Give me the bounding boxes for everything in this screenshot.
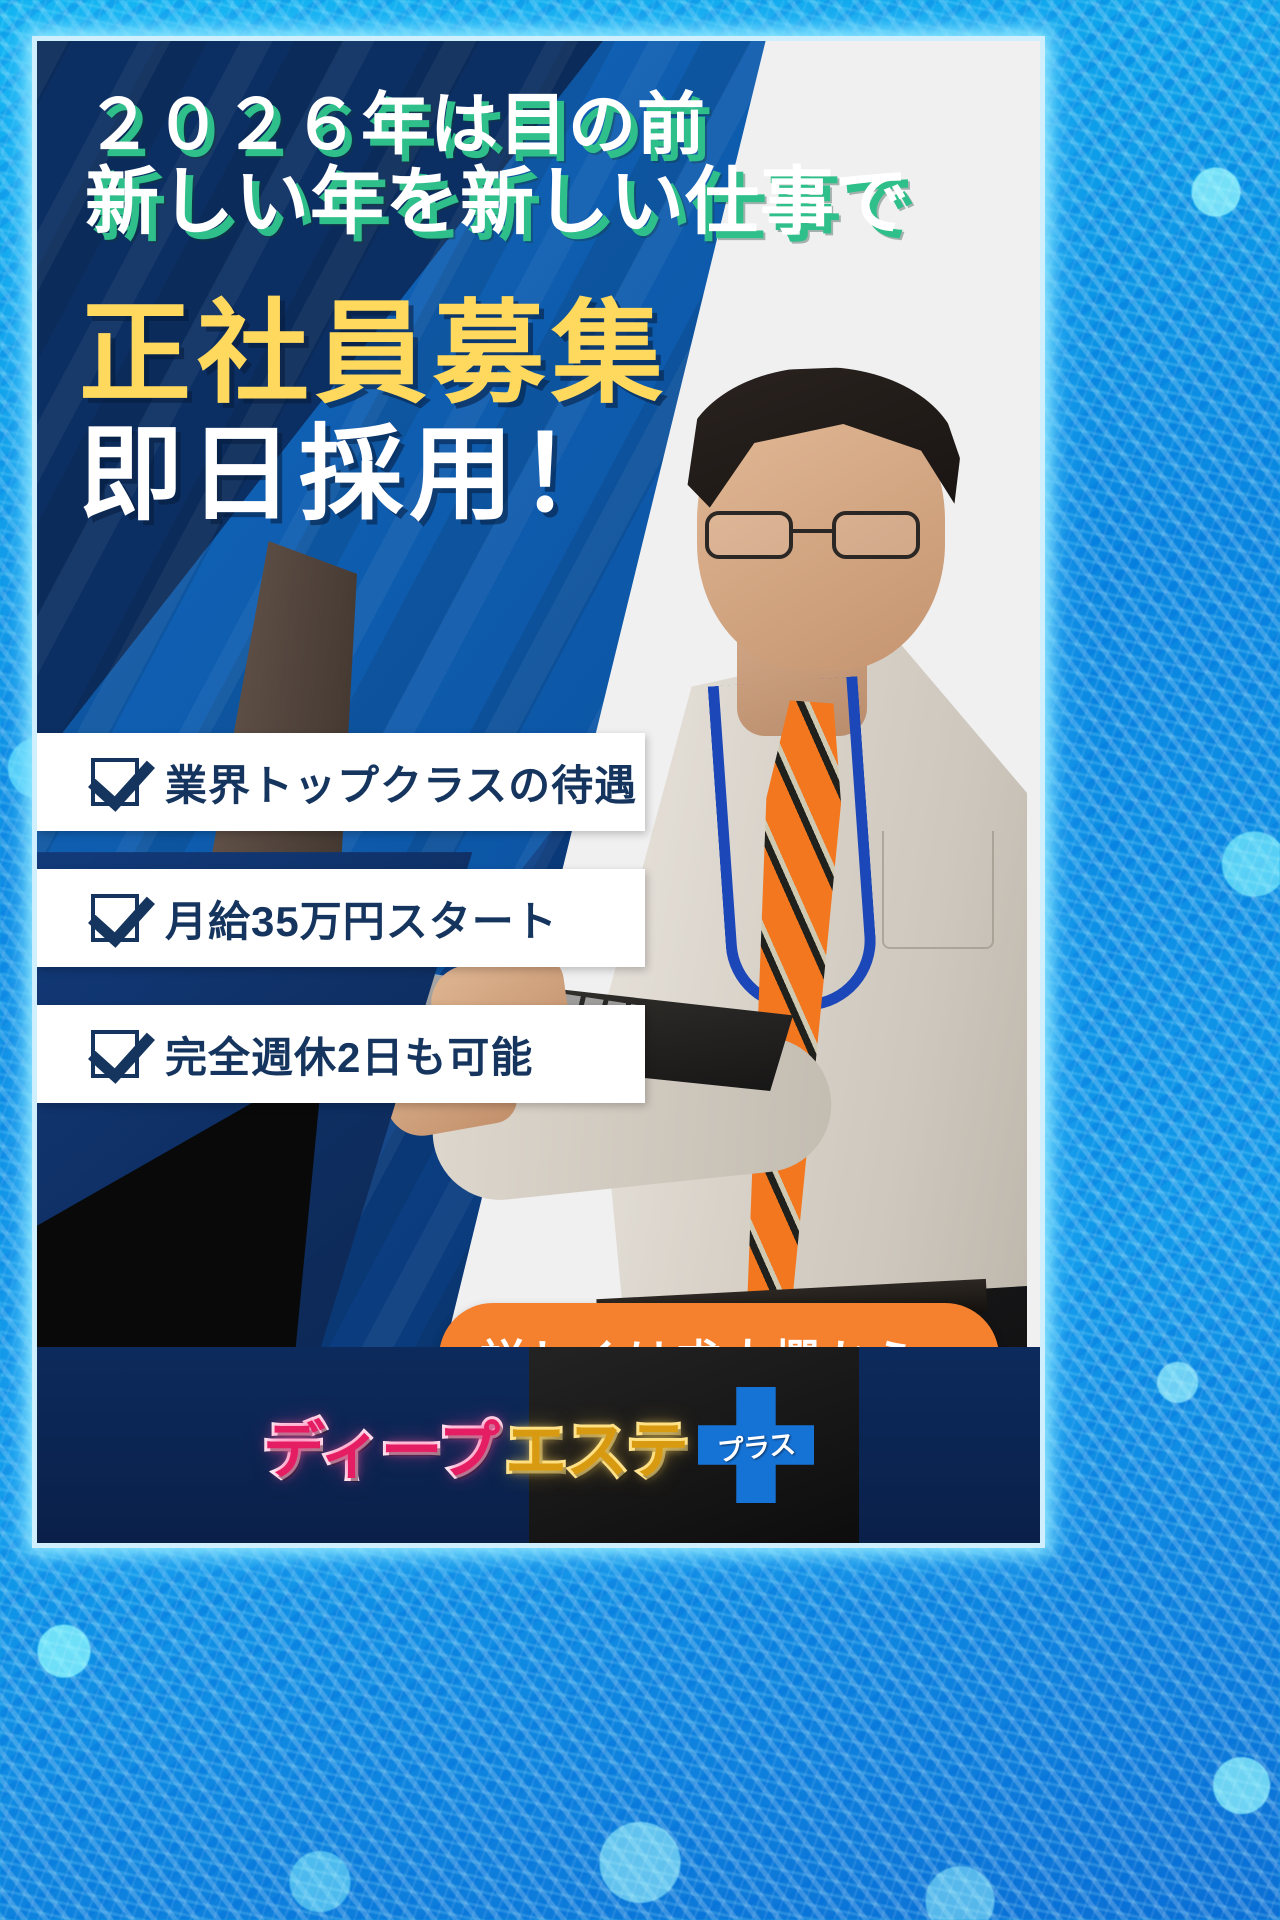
benefit-label: 業界トップクラスの待遇 bbox=[165, 752, 637, 813]
logo-bar: ディープ エステ プラス bbox=[37, 1347, 1040, 1543]
shirt-pocket bbox=[882, 831, 994, 949]
list-item: 業界トップクラスの待遇 bbox=[37, 733, 645, 831]
list-item: 完全週休2日も可能 bbox=[37, 1005, 645, 1103]
benefit-list: 業界トップクラスの待遇 月給35万円スタート 完全週休2日も可能 bbox=[37, 733, 677, 1141]
main-title-line-1: 正社員募集 bbox=[79, 291, 859, 416]
brand-logo: ディープ エステ プラス bbox=[263, 1387, 814, 1503]
main-title-line-2: 即日採用！ bbox=[79, 416, 859, 536]
plus-cross-icon: プラス bbox=[698, 1387, 814, 1503]
headline-line-2: 新しい年を新しい仕事で bbox=[85, 162, 985, 242]
checkbox-checked-icon bbox=[91, 1030, 139, 1078]
benefit-label: 完全週休2日も可能 bbox=[165, 1024, 533, 1085]
plus-badge-label: プラス bbox=[715, 1422, 796, 1469]
logo-word-este: エステ bbox=[505, 1400, 688, 1490]
logo-word-deep: ディープ bbox=[263, 1400, 499, 1490]
benefit-label: 月給35万円スタート bbox=[165, 888, 558, 949]
headline: ２０２６年は目の前 新しい年を新しい仕事で bbox=[85, 89, 985, 242]
list-item: 月給35万円スタート bbox=[37, 869, 645, 967]
headline-line-1: ２０２６年は目の前 bbox=[85, 89, 985, 162]
page-title: 正社員募集 即日採用！ bbox=[79, 291, 859, 536]
checkbox-checked-icon bbox=[91, 894, 139, 942]
checkbox-checked-icon bbox=[91, 758, 139, 806]
poster-frame: ２０２６年は目の前 新しい年を新しい仕事で 正社員募集 即日採用！ 業界トップク… bbox=[32, 36, 1045, 1548]
